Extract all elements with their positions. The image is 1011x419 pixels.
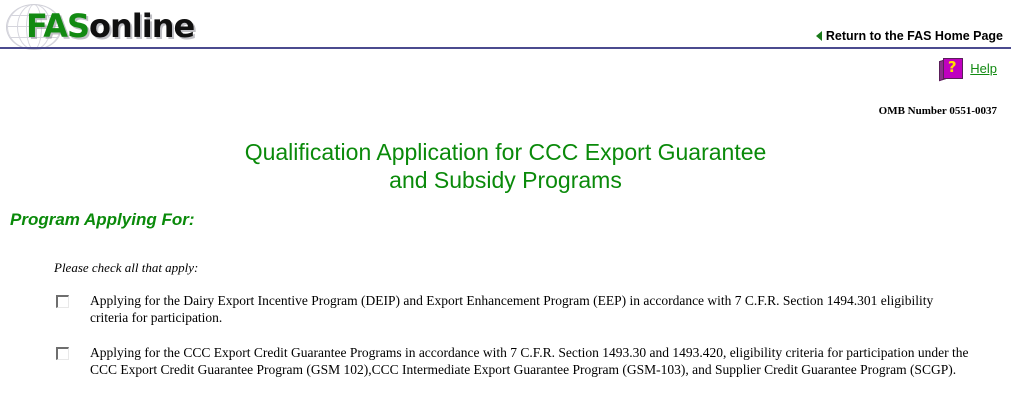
page-title: Qualification Application for CCC Export… xyxy=(0,138,1011,194)
program-checkbox-list: Applying for the Dairy Export Incentive … xyxy=(56,292,996,396)
checkbox-label-ccc-export-credit-guarantee: Applying for the CCC Export Credit Guara… xyxy=(90,344,970,378)
question-mark-glyph: ? xyxy=(943,57,961,76)
return-to-fas-home-link[interactable]: Return to the FAS Home Page xyxy=(816,29,1003,43)
checkbox-label-deip-eep: Applying for the Dairy Export Incentive … xyxy=(90,292,970,326)
fasonline-logo: FASonline xyxy=(4,2,184,48)
page-title-line1: Qualification Application for CCC Export… xyxy=(245,139,767,165)
help-link[interactable]: Help xyxy=(970,61,997,76)
logo-wordmark: FASonline xyxy=(26,8,194,44)
help-area[interactable]: ? Help xyxy=(939,57,997,79)
header-divider xyxy=(0,47,1011,49)
section-heading-program-applying-for: Program Applying For: xyxy=(10,210,195,230)
checkbox-deip-eep[interactable] xyxy=(56,295,69,308)
checkbox-row: Applying for the Dairy Export Incentive … xyxy=(56,292,996,326)
logo-text-online: online xyxy=(89,7,194,45)
page-header: FASonline Return to the FAS Home Page xyxy=(0,0,1011,48)
checkbox-ccc-export-credit-guarantee[interactable] xyxy=(56,347,69,360)
instruction-text: Please check all that apply: xyxy=(54,260,198,276)
logo-text-fas: FAS xyxy=(26,7,89,45)
return-link-label: Return to the FAS Home Page xyxy=(826,29,1003,43)
help-book-icon[interactable]: ? xyxy=(939,57,963,79)
left-triangle-icon xyxy=(816,31,822,41)
omb-number: OMB Number 0551-0037 xyxy=(879,105,997,117)
checkbox-row: Applying for the CCC Export Credit Guara… xyxy=(56,344,996,378)
page-title-line2: and Subsidy Programs xyxy=(0,166,1011,194)
